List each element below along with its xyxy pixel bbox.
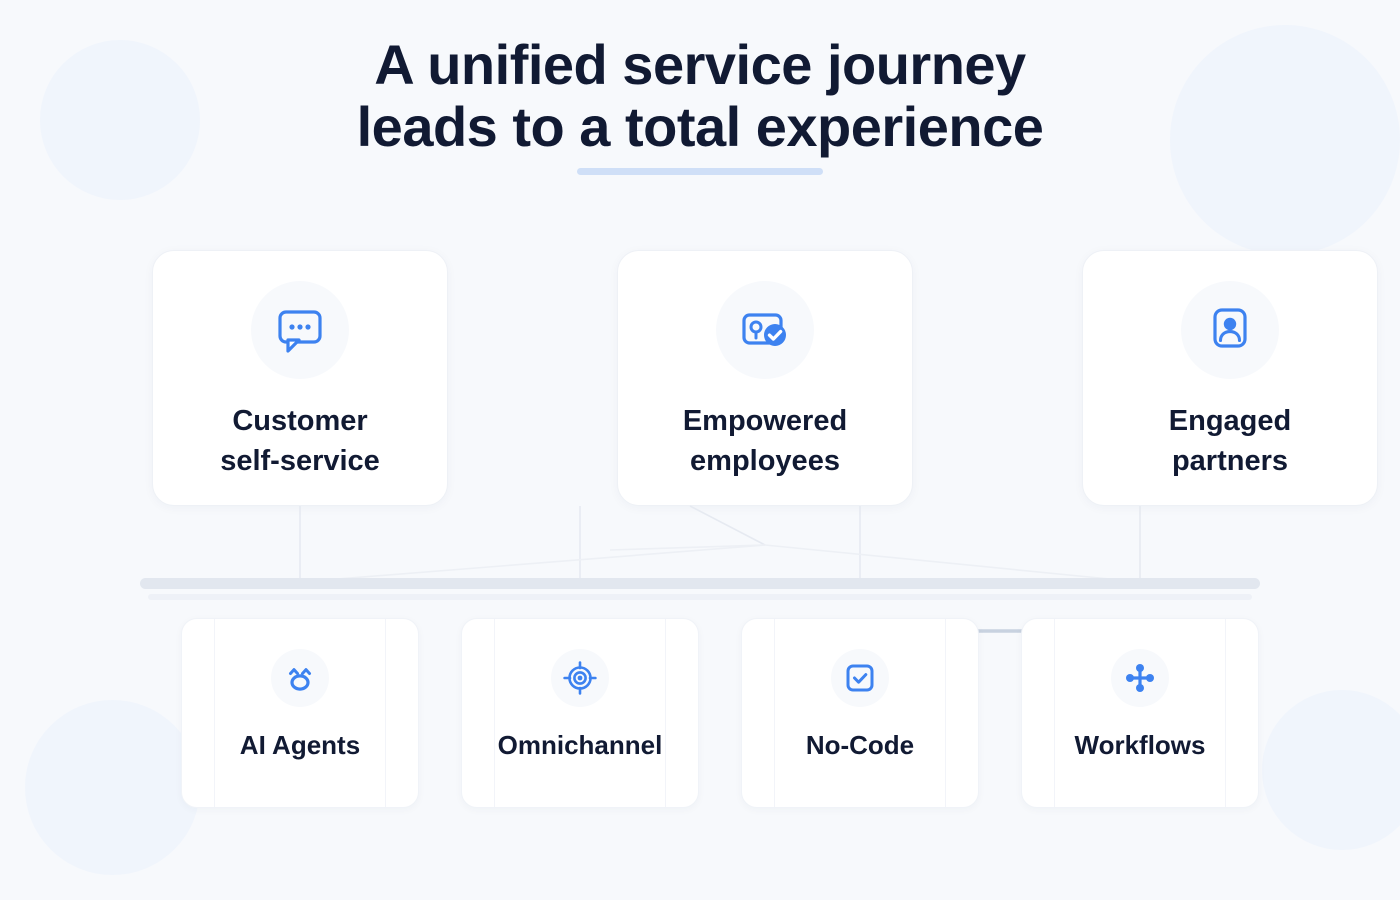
journey-separator-shadow xyxy=(148,594,1252,600)
capability-card-workflows[interactable]: Workflows xyxy=(1021,618,1259,808)
target-crosshair-icon xyxy=(551,649,609,707)
journey-card-empowered-employees[interactable]: Empowered employees xyxy=(617,250,913,506)
capability-card-ai-agents[interactable]: AI Agents xyxy=(181,618,419,808)
chat-bubble-icon xyxy=(251,281,349,379)
title-underline-accent xyxy=(577,168,823,175)
journey-card-title: Customer self-service xyxy=(220,401,380,481)
capabilities-row: AI Agents Omnichannel xyxy=(0,618,1400,808)
journey-separator-bar xyxy=(140,578,1260,589)
robot-icon xyxy=(271,649,329,707)
workflow-nodes-icon xyxy=(1111,649,1169,707)
user-profile-card-icon xyxy=(1181,281,1279,379)
capability-card-label: No-Code xyxy=(806,729,914,761)
journey-card-title: Engaged partners xyxy=(1169,401,1291,481)
capability-card-label: Omnichannel xyxy=(498,729,663,761)
page-title-line-1: A unified service journey xyxy=(374,33,1025,96)
page-title-line-2: leads to a total experience xyxy=(357,95,1044,158)
capability-card-label: AI Agents xyxy=(240,729,360,761)
capability-card-no-code[interactable]: No-Code xyxy=(741,618,979,808)
infographic-page: A unified service journey leads to a tot… xyxy=(0,0,1400,900)
page-title: A unified service journey leads to a tot… xyxy=(0,34,1400,175)
id-badge-check-icon xyxy=(716,281,814,379)
capability-card-omnichannel[interactable]: Omnichannel xyxy=(461,618,699,808)
checkbox-check-icon xyxy=(831,649,889,707)
journey-steps-row: Customer self-service Empowered employee… xyxy=(0,250,1400,506)
capability-card-label: Workflows xyxy=(1075,729,1206,761)
journey-card-engaged-partners[interactable]: Engaged partners xyxy=(1082,250,1378,506)
journey-card-customer-self-service[interactable]: Customer self-service xyxy=(152,250,448,506)
journey-card-title: Empowered employees xyxy=(683,401,847,481)
